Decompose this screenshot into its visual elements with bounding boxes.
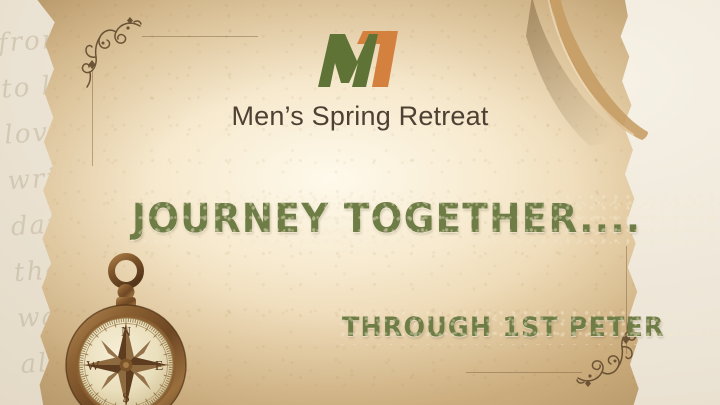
slide-canvas: from to learn loving writing of the day … [0,0,720,405]
brand-title: Men’s Spring Retreat [0,101,720,132]
compass-label-west: W [86,359,100,374]
border-line-top [142,36,258,37]
headline-journey-together: JOURNEY TOGETHER.... [132,196,720,242]
ornament-top-left [68,12,144,90]
vintage-compass: N E W S [55,252,197,405]
compass-label-south: S [122,391,130,405]
border-line-bottom [466,372,582,373]
subheadline-through-1st-peter: THROUGH 1ST PETER [342,312,720,343]
m7-logo [316,30,408,88]
compass-label-east: E [155,359,164,374]
compass-label-north: N [121,325,131,340]
